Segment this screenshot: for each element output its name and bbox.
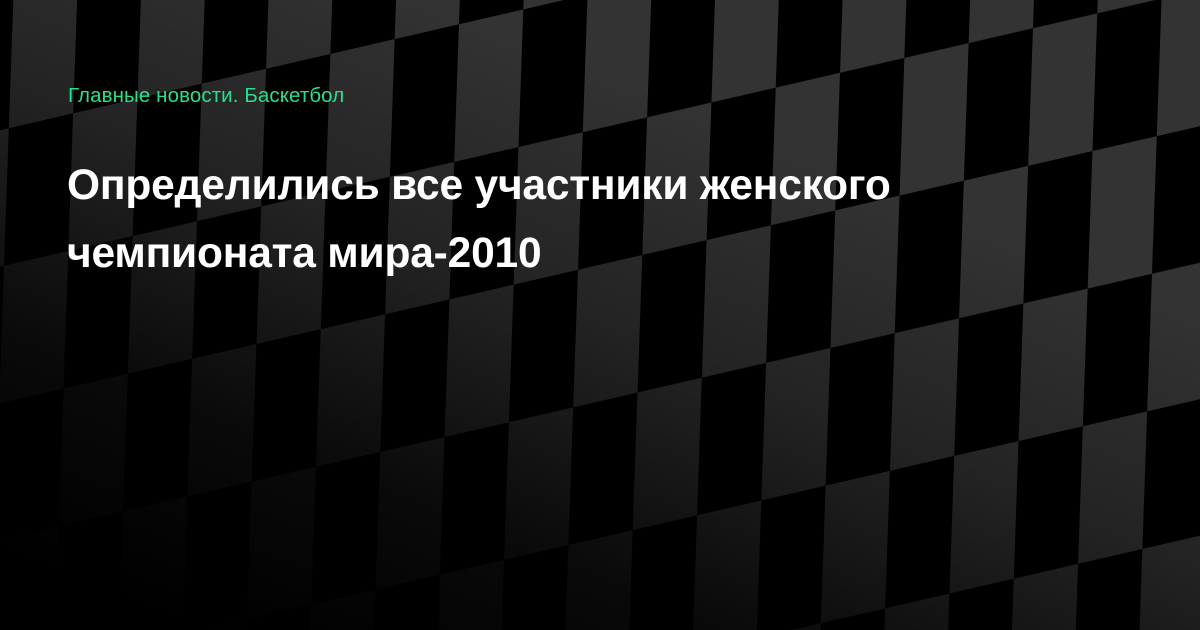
social-share-card: Главные новости. Баскетбол Определились … (0, 0, 1200, 630)
section-kicker[interactable]: Главные новости. Баскетбол (68, 82, 344, 110)
headline: Определились все участники женского чемп… (67, 152, 1107, 288)
